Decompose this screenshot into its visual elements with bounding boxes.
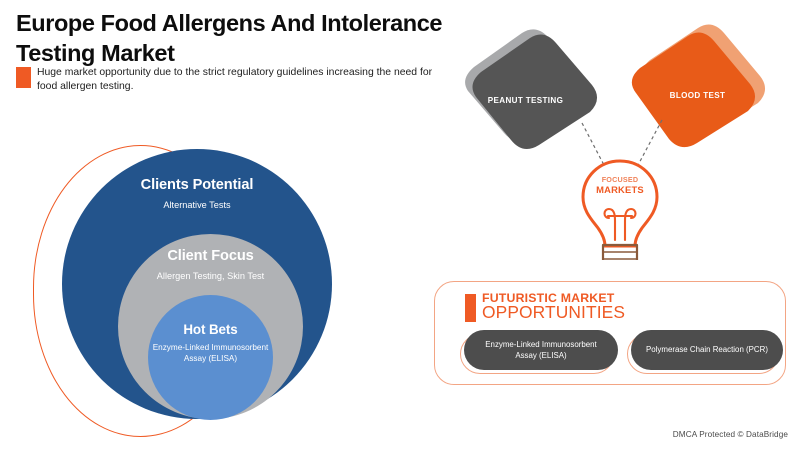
panel-heading-bottom: OPPORTUNITIES bbox=[482, 303, 625, 322]
infographic-canvas: Europe Food Allergens And Intolerance Te… bbox=[0, 0, 800, 450]
circle-outer-title: Clients Potential bbox=[141, 177, 254, 193]
page-title: Europe Food Allergens And Intolerance Te… bbox=[16, 9, 456, 69]
peanut-testing-blob[interactable] bbox=[472, 34, 597, 149]
circle-middle-subtitle: Allergen Testing, Skin Test bbox=[157, 271, 264, 283]
bulb-label-focused: FOCUSED bbox=[590, 175, 650, 184]
circle-outer-subtitle: Alternative Tests bbox=[163, 200, 230, 212]
lightbulb-glass-icon[interactable] bbox=[583, 161, 657, 246]
header-accent-bar bbox=[16, 67, 31, 88]
bulb-label-markets: MARKETS bbox=[590, 184, 650, 195]
opportunity-item-pcr[interactable]: Polymerase Chain Reaction (PCR) bbox=[631, 330, 783, 374]
concentric-circles-diagram: Clients Potential Alternative Tests Clie… bbox=[30, 140, 350, 445]
panel-accent-bar bbox=[465, 294, 476, 322]
focused-markets-diagram: PEANUT TESTING BLOOD TEST FOCUSED MARKET… bbox=[440, 15, 785, 260]
opportunity-item-elisa[interactable]: Enzyme-Linked Immunosorbent Assay (ELISA… bbox=[464, 330, 618, 374]
focus-diagram-svg bbox=[440, 15, 785, 260]
circle-middle-title: Client Focus bbox=[167, 248, 253, 264]
pill-label-2: Polymerase Chain Reaction (PCR) bbox=[631, 330, 783, 370]
pill-label-1: Enzyme-Linked Immunosorbent Assay (ELISA… bbox=[464, 330, 618, 370]
circle-inner-title: Hot Bets bbox=[183, 322, 237, 337]
connector-peanut-to-bulb bbox=[582, 123, 605, 167]
page-subtitle: Huge market opportunity due to the stric… bbox=[37, 66, 437, 95]
circle-hot-bets[interactable]: Hot Bets Enzyme-Linked Immunosorbent Ass… bbox=[148, 295, 273, 420]
blood-test-label: BLOOD TEST bbox=[650, 91, 745, 100]
copyright-footer: DMCA Protected © DataBridge bbox=[673, 430, 788, 439]
peanut-testing-label: PEANUT TESTING bbox=[478, 96, 573, 105]
circle-inner-subtitle: Enzyme-Linked Immunosorbent Assay (ELISA… bbox=[153, 343, 269, 364]
connector-blood-to-bulb bbox=[637, 120, 662, 167]
futuristic-opportunities-panel: FUTURISTIC MARKET OPPORTUNITIES Enzyme-L… bbox=[434, 281, 786, 385]
